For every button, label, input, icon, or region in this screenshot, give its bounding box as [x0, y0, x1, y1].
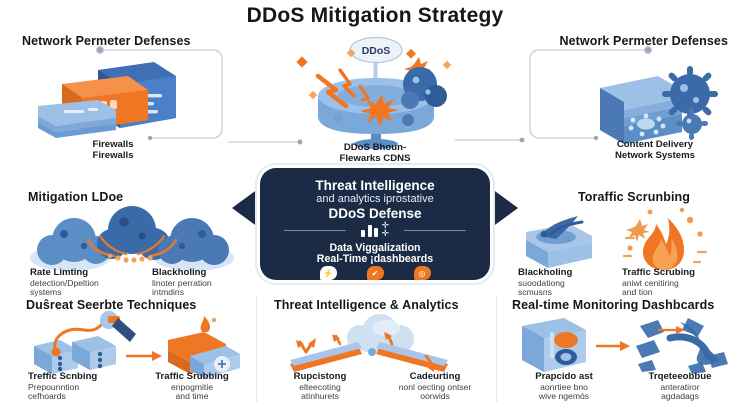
bottom-divider-2 [496, 296, 497, 402]
bottom-1-item-1-sub2: cefhoards [28, 392, 140, 402]
bottom-2-item-2-caption: Cadeurting nonl oecting ontser oorwids [374, 372, 496, 402]
traffic-scrubbing-right-sub2: and tion [622, 288, 734, 298]
bottom-3-item-1-sub2: wive ngemós [508, 392, 620, 402]
banner-chip-row: ⚡ ✔ ◎ [260, 266, 490, 280]
bottom-3-item-1-caption: Prapcido ast aonrtiee bno wive ngemós [508, 372, 620, 402]
botnet-cluster-icon [26, 206, 240, 268]
banner-rule-right [404, 230, 466, 231]
bar-chart-icon: ✛✛ [361, 221, 389, 237]
traffic-scrubbing-right-caption: Traffic Scrubing aniwt cenitiring and ti… [622, 268, 734, 298]
target-alert-icon: ◎ [414, 266, 431, 280]
bottom-panel-1-heading: Duŝreat Seerbte Techniques [26, 298, 196, 312]
chat-alert-icon: ⚡ [320, 266, 337, 280]
firewall-caption-line2: Firewalls [58, 151, 168, 162]
bottom-2-item-1-sub2: atinhurets [266, 392, 374, 402]
flame-scrubbing-icon [620, 204, 710, 270]
bottom-1-item-1-caption: Treffic Scnbing Prepounntion cefhoards [28, 372, 140, 402]
top-left-heading: Network Permeter Defenses [22, 34, 191, 48]
shield-check-icon: ✔ [367, 266, 384, 280]
bottom-3-item-2-caption: Trqeteeobbue anteratiror agdadags [622, 372, 738, 402]
firewall-stack-icon [36, 58, 186, 138]
ddos-badge-text: DDoS [362, 45, 391, 57]
ddos-caption-line2: Flewarks CDNS [300, 154, 450, 165]
ddos-attack-cylinder-icon: DDoS [288, 34, 464, 144]
bottom-divider-1 [256, 296, 257, 402]
cdn-caption-line2: Network Systems [580, 151, 730, 162]
bottom-panel-2-heading: Threat Intelligence & Analytics [274, 298, 459, 312]
bottom-1-item-2-caption: Traffic Srubbing enpogmitie and time [136, 372, 248, 402]
blackhole-box-icon [516, 212, 606, 270]
banner-right-chevron [488, 186, 518, 230]
middle-right-heading: Toraffic Scrunbing [578, 190, 690, 204]
banner-line1: Threat Intelligence [260, 178, 490, 193]
rate-limiting-caption: Rate Limting detection/Dpeltion systems [30, 268, 142, 298]
blackholing-left-sub2: intmdins [152, 288, 262, 298]
bottom-2-item-1-caption: Rupcistong elteecoting atinhurets [266, 372, 374, 402]
banner-line2: and analytics iprostative [260, 193, 490, 205]
top-right-heading: Network Permeter Defenses [559, 34, 728, 48]
cdn-caption: Content Delivery Network Systems [580, 140, 730, 161]
bottom-1-item-2-sub2: and time [136, 392, 248, 402]
monitoring-rack-to-threats-icon [512, 312, 738, 374]
cdn-server-virus-icon [586, 62, 726, 142]
bottom-2-item-2-sub2: oorwids [374, 392, 496, 402]
firewall-caption: Firewalls Firewalls [58, 140, 168, 161]
infographic-canvas: DDoS Mitigation Strategy Network Permete… [0, 0, 750, 410]
rate-limiting-sub2: systems [30, 288, 142, 298]
banner-line3: DDoS Defense [260, 206, 490, 221]
banner-rule-left [284, 230, 346, 231]
bottom-panel-3-heading: Real-time Monitoring Dashbcards [512, 298, 714, 312]
blackholing-right-caption: Blackholing suoodationg scmusns [518, 268, 618, 298]
server-to-scrubber-flow-icon [26, 312, 246, 372]
central-banner: Threat Intelligence and analytics iprost… [232, 168, 518, 280]
bottom-3-item-2-sub2: agdadags [622, 392, 738, 402]
banner-body: Threat Intelligence and analytics iprost… [260, 168, 490, 280]
banner-left-chevron [232, 186, 262, 230]
cloud-seesaw-analytics-icon [276, 314, 482, 372]
ddos-caption: DDoS Bhoun- Flewarks CDNS [300, 143, 450, 164]
middle-left-heading: Mitigation LDoe [28, 190, 123, 204]
banner-line5: Real-Time ¡dashbeards [260, 253, 490, 265]
blackholing-right-sub2: scmusns [518, 288, 618, 298]
